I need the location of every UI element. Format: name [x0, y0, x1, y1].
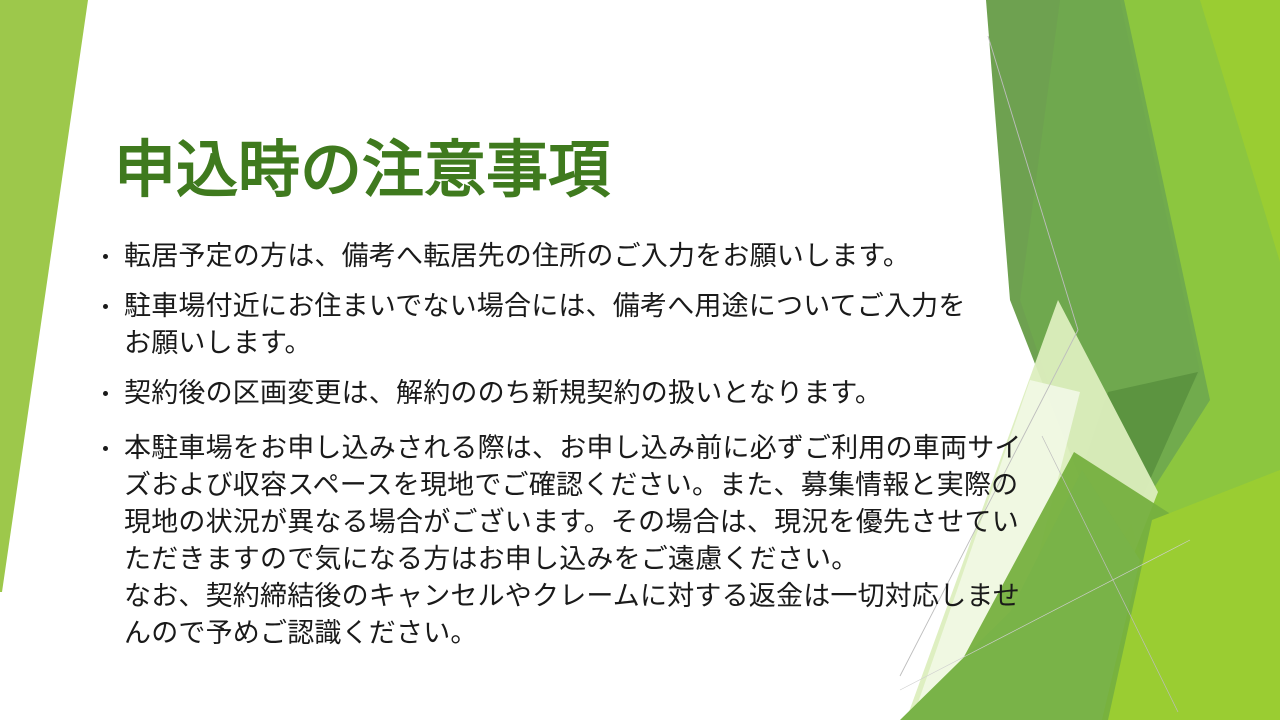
notes-bullet-list: 転居予定の方は、備考へ転居先の住所のご入力をお願いします。 駐車場付近にお住まい…: [98, 238, 1028, 652]
bullet-item: 契約後の区画変更は、解約ののち新規契約の扱いとなります。: [98, 375, 1028, 412]
bullet-item: 本駐車場をお申し込みされる際は、お申し込み前に必ずご利用の車両サイ ズおよび収容…: [98, 430, 1028, 652]
bullet-item: 転居予定の方は、備考へ転居先の住所のご入力をお願いします。: [98, 238, 1028, 275]
bullet-dot-icon: [103, 446, 108, 451]
bullet-dot-icon: [103, 304, 108, 309]
bullet-dot-icon: [103, 391, 108, 396]
bullet-item: 駐車場付近にお住まいでない場合には、備考へ用途についてご入力を お願いします。: [98, 288, 1028, 362]
bullet-text: 本駐車場をお申し込みされる際は、お申し込み前に必ずご利用の車両サイ ズおよび収容…: [124, 430, 1028, 652]
bullet-dot-icon: [103, 254, 108, 259]
presentation-slide: 申込時の注意事項 転居予定の方は、備考へ転居先の住所のご入力をお願いします。 駐…: [0, 0, 1280, 720]
slide-content: 申込時の注意事項 転居予定の方は、備考へ転居先の住所のご入力をお願いします。 駐…: [0, 0, 1280, 720]
slide-title: 申込時の注意事項: [114, 136, 934, 205]
bullet-text: 駐車場付近にお住まいでない場合には、備考へ用途についてご入力を お願いします。: [124, 288, 1028, 362]
bullet-text: 転居予定の方は、備考へ転居先の住所のご入力をお願いします。: [124, 238, 1028, 275]
bullet-text: 契約後の区画変更は、解約ののち新規契約の扱いとなります。: [124, 375, 1028, 412]
